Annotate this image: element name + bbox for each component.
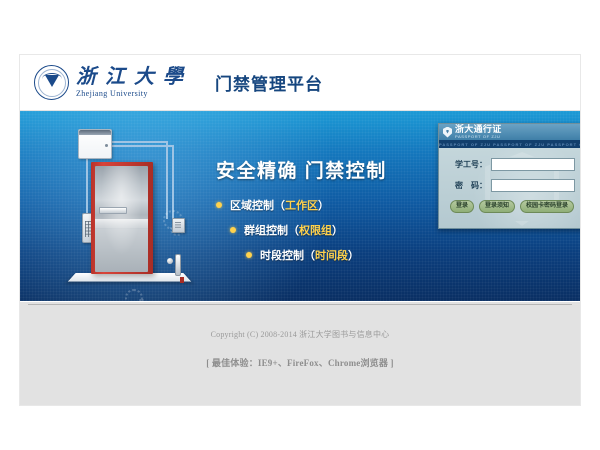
feature-label: 时段控制（ [260,247,315,263]
password-row: 密 码： [439,179,580,192]
feature-item-timeslot: 时段控制（ 时间段 ） [246,247,416,263]
login-button[interactable]: 登录 [450,200,474,213]
feature-item-group: 群组控制（ 权限组 ） [230,222,416,238]
page-title: 门禁管理平台 [215,70,323,95]
username-input[interactable] [491,158,575,171]
floor-plate [68,273,192,282]
door-illustration [60,121,220,301]
cable-segment [110,141,168,143]
passport-strip: PASSPORT OF ZJU PASSPORT OF ZJU PASSPORT… [439,140,580,148]
door-closer-icon [99,207,127,214]
hero-banner: 安全精确 门禁控制 区域控制（ 工作区 ） 群组控制（ 权限组 ） 时段控制（ [20,111,580,301]
cable-segment [110,145,174,147]
crest-inner-ring [38,69,66,97]
site-footer: Copyright (C) 2008-2014 浙江大学图书与信息中心 [ 最佳… [20,301,580,405]
login-notice-button[interactable]: 登录须知 [479,200,515,213]
feature-highlight: 工作区 [285,197,318,213]
bullet-icon [246,252,252,258]
banner-slogan: 安全精确 门禁控制 [216,156,416,183]
passport-shield-icon [443,127,452,138]
site-header: 浙 江 大 學 Zhejiang University 门禁管理平台 [20,55,580,110]
zju-name-en: Zhejiang University [76,90,185,98]
login-panel-title: 浙大通行证 [455,125,502,134]
cable-segment [86,157,88,214]
campus-card-login-button[interactable]: 校园卡密码登录 [520,200,574,213]
zju-wordmark: 浙 江 大 學 Zhejiang University [76,67,185,98]
password-input[interactable] [491,179,575,192]
feature-highlight: 权限组 [299,222,332,238]
feature-highlight: 时间段 [315,247,348,263]
zju-logo[interactable]: 浙 江 大 學 Zhejiang University [34,65,185,100]
login-actions: 登录 登录须知 校园卡密码登录 [439,200,580,213]
feature-list: 区域控制（ 工作区 ） 群组控制（ 权限组 ） 时段控制（ 时间段 ） [216,197,416,263]
banner-copy: 安全精确 门禁控制 区域控制（ 工作区 ） 群组控制（ 权限组 ） 时段控制（ [216,156,416,279]
app-page: 浙 江 大 學 Zhejiang University 门禁管理平台 [20,55,580,405]
door-lock-icon [180,277,184,283]
login-panel-subtitle: PASSPORT OF ZJU [455,135,502,139]
username-label: 学工号： [449,159,487,170]
copyright-text: Copyright (C) 2008-2014 浙江大学图书与信息中心 [20,302,580,340]
login-panel-header: 浙大通行证 PASSPORT OF ZJU [439,124,580,140]
door-knob-icon [167,258,173,264]
login-form: 学工号： 密 码： 登录 登录须知 校园卡密码登录 [439,148,580,228]
door-handle-icon [175,254,181,276]
feature-tail: ） [318,197,329,213]
feature-tail: ） [348,247,359,263]
security-door-icon [91,162,153,274]
zju-name-cn: 浙 江 大 學 [76,67,185,87]
access-controller-box-icon [78,129,112,159]
login-panel: 浙大通行证 PASSPORT OF ZJU PASSPORT OF ZJU PA… [438,123,580,229]
card-reader-icon [172,218,185,233]
cable-segment [166,141,168,219]
login-panel-titles: 浙大通行证 PASSPORT OF ZJU [455,125,502,139]
browser-support-text: [ 最佳体验：IE9+、FireFox、Chrome浏览器 ] [20,340,580,369]
bullet-icon [216,202,222,208]
zju-crest-icon [34,65,69,100]
feature-tail: ） [332,222,343,238]
password-label: 密 码： [449,180,487,191]
cable-segment [172,145,174,219]
username-row: 学工号： [439,158,580,171]
feature-item-area: 区域控制（ 工作区 ） [216,197,416,213]
bullet-icon [230,227,236,233]
feature-label: 群组控制（ [244,222,299,238]
feature-label: 区域控制（ [230,197,285,213]
door-highlight-band [95,219,148,228]
